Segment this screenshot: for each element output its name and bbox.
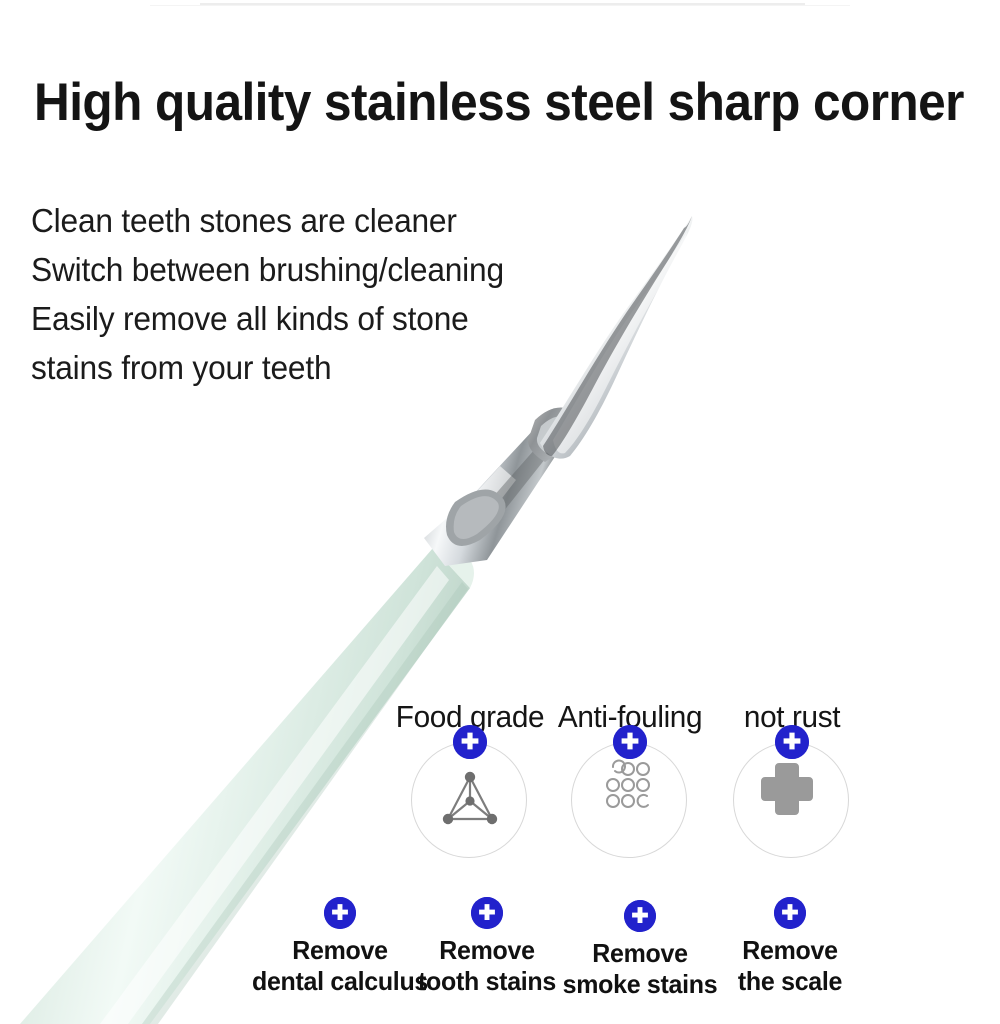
description-line: Easily remove all kinds of stone (31, 294, 626, 343)
shaft-inlay (446, 489, 506, 545)
plus-badge-icon (774, 897, 806, 929)
feature-not-rust[interactable]: not rust (697, 700, 887, 860)
plus-badge-icon (324, 897, 356, 929)
description-line: stains from your teeth (31, 343, 626, 392)
dot-grid-icon (571, 742, 689, 860)
plus-badge-icon (613, 725, 647, 759)
ferrule (528, 408, 582, 463)
description-block: Clean teeth stones are cleaner Switch be… (31, 196, 651, 392)
metal-shaft (424, 427, 560, 566)
plus-badge-icon (624, 900, 656, 932)
description-line: Clean teeth stones are cleaner (31, 196, 626, 245)
cross-icon (733, 742, 851, 860)
benefit-line-2: the scale (689, 966, 891, 997)
top-divider-secondary (150, 5, 850, 6)
plus-badge-icon (471, 897, 503, 929)
benefit-remove-the-scale[interactable]: Remove the scale (685, 897, 895, 997)
benefit-line-1: Remove (689, 935, 891, 966)
product-feature-image: High quality stainless steel sharp corne… (0, 0, 1000, 1024)
product-image-dental-scaler (0, 0, 1000, 1024)
plus-badge-icon (453, 725, 487, 759)
description-line: Switch between brushing/cleaning (31, 245, 626, 294)
page-title: High quality stainless steel sharp corne… (34, 72, 932, 134)
plus-badge-icon (775, 725, 809, 759)
molecule-icon (411, 742, 529, 860)
